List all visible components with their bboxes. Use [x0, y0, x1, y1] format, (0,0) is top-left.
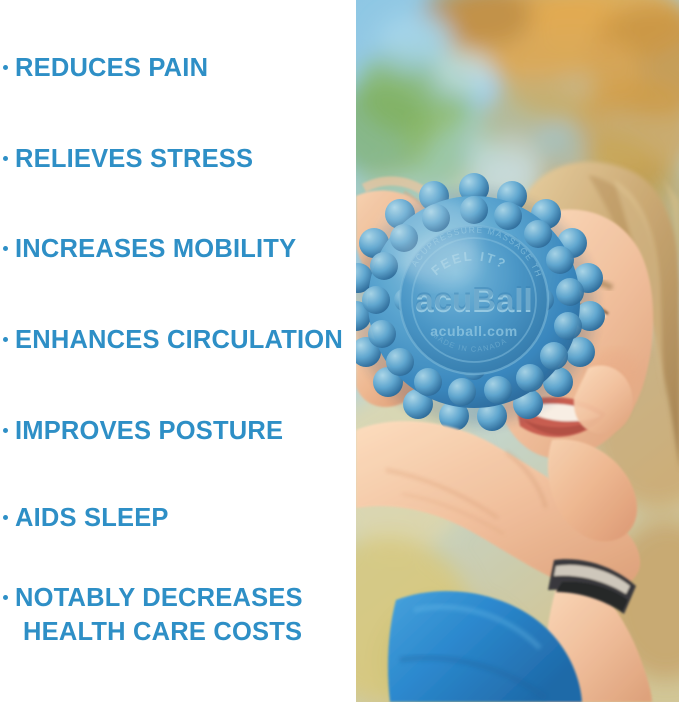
benefit-item-notably-decreases-health-care-costs: NOTABLY DECREASESHEALTH CARE COSTS [0, 581, 303, 649]
benefits-list: REDUCES PAIN RELIEVES STRESS INCREASES M… [0, 0, 356, 702]
benefit-label: AIDS SLEEP [15, 501, 169, 535]
bullet-icon [3, 246, 8, 251]
benefit-label: IMPROVES POSTURE [15, 414, 283, 448]
bullet-icon [3, 595, 8, 600]
benefit-label: NOTABLY DECREASES [15, 584, 303, 612]
benefit-item-aids-sleep: AIDS SLEEP [0, 501, 169, 535]
benefit-item-improves-posture: IMPROVES POSTURE [0, 414, 283, 448]
benefit-item-increases-mobility: INCREASES MOBILITY [0, 232, 296, 266]
benefit-label: RELIEVES STRESS [15, 142, 253, 176]
photo-illustration: ACUPRESSURE MASSAGE THERAPY FEEL IT? acu… [356, 0, 679, 702]
bullet-icon [3, 428, 8, 433]
benefits-infographic: REDUCES PAIN RELIEVES STRESS INCREASES M… [0, 0, 679, 702]
benefit-item-reduces-pain: REDUCES PAIN [0, 51, 208, 85]
bullet-icon [3, 65, 8, 70]
benefit-label: ENHANCES CIRCULATION [15, 323, 343, 357]
benefit-label-wrap: NOTABLY DECREASESHEALTH CARE COSTS [15, 581, 303, 649]
benefit-label: INCREASES MOBILITY [15, 232, 296, 266]
benefit-label-second-line: HEALTH CARE COSTS [15, 615, 303, 649]
product-photo: ACUPRESSURE MASSAGE THERAPY FEEL IT? acu… [356, 0, 679, 702]
bullet-icon [3, 337, 8, 342]
benefit-label: REDUCES PAIN [15, 51, 208, 85]
benefit-item-relieves-stress: RELIEVES STRESS [0, 142, 253, 176]
bullet-icon [3, 515, 8, 520]
bullet-icon [3, 156, 8, 161]
photo-warm-overlay [356, 0, 679, 702]
benefit-item-enhances-circulation: ENHANCES CIRCULATION [0, 323, 343, 357]
